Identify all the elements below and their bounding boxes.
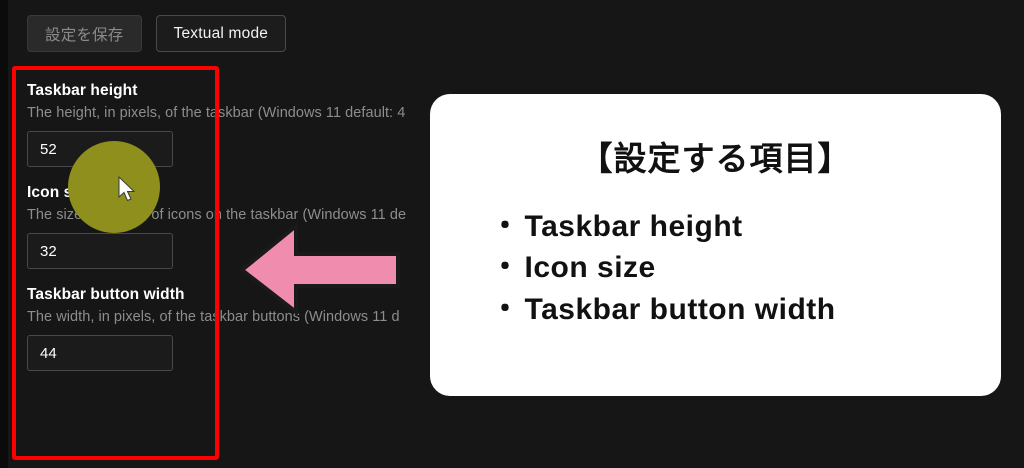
window-left-edge (0, 0, 8, 468)
setting-taskbar-button-width: Taskbar button width The width, in pixel… (27, 286, 417, 371)
list-item: ・Taskbar button width (490, 289, 967, 330)
setting-taskbar-height: Taskbar height The height, in pixels, of… (27, 82, 417, 167)
info-card-list: ・Taskbar height ・Icon size ・Taskbar butt… (464, 206, 967, 330)
settings-list: Taskbar height The height, in pixels, of… (27, 82, 417, 387)
textual-mode-button[interactable]: Textual mode (156, 15, 287, 52)
setting-icon-size: Icon size The size, in pixels, of icons … (27, 184, 417, 269)
info-card-title: 【設定する項目】 (464, 132, 967, 180)
list-bullet: ・ (490, 293, 521, 326)
setting-title-taskbar-height: Taskbar height (27, 82, 417, 100)
setting-description-taskbar-height: The height, in pixels, of the taskbar (W… (27, 105, 417, 121)
save-settings-button[interactable]: 設定を保存 (27, 15, 142, 52)
taskbar-height-input[interactable] (27, 131, 173, 167)
setting-title-icon-size: Icon size (27, 184, 417, 202)
setting-title-taskbar-button-width: Taskbar button width (27, 286, 417, 304)
setting-description-icon-size: The size, in pixels, of icons on the tas… (27, 207, 417, 223)
app-window: 設定を保存 Textual mode Taskbar height The he… (0, 0, 1024, 468)
list-bullet: ・ (490, 251, 521, 284)
list-item-label: Icon size (525, 251, 656, 284)
list-item: ・Icon size (490, 247, 967, 288)
list-item-label: Taskbar button width (525, 293, 836, 326)
info-card: 【設定する項目】 ・Taskbar height ・Icon size ・Tas… (430, 94, 1001, 396)
toolbar: 設定を保存 Textual mode (27, 15, 286, 52)
list-item: ・Taskbar height (490, 206, 967, 247)
list-item-label: Taskbar height (525, 210, 743, 243)
icon-size-input[interactable] (27, 233, 173, 269)
taskbar-button-width-input[interactable] (27, 335, 173, 371)
setting-description-taskbar-button-width: The width, in pixels, of the taskbar but… (27, 309, 417, 325)
list-bullet: ・ (490, 210, 521, 243)
